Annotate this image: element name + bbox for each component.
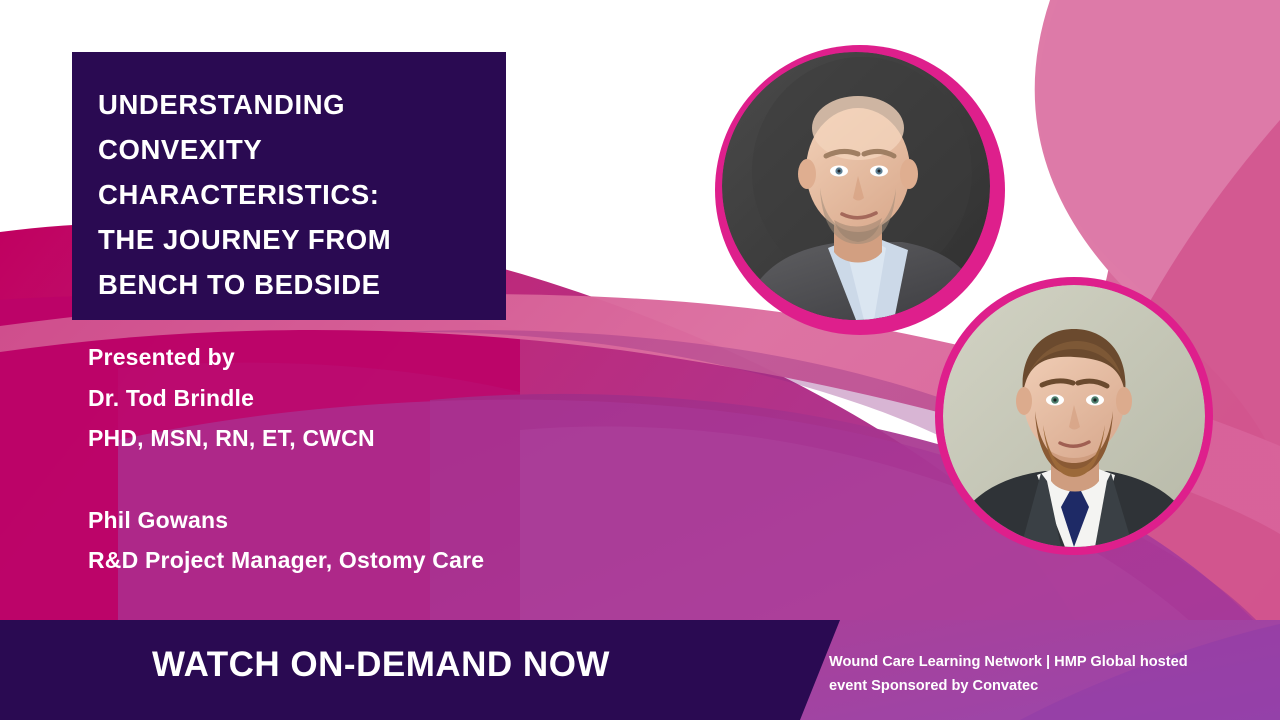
title-line-3: CHARACTERISTICS: — [98, 172, 472, 217]
watch-on-demand-button[interactable]: WATCH ON-DEMAND NOW — [152, 645, 610, 685]
title-line-1: UNDERSTANDING — [98, 82, 472, 127]
speaker-2-name: Phil Gowans — [88, 500, 708, 541]
presented-by-label: Presented by — [88, 337, 708, 378]
presenters-block: Presented by Dr. Tod Brindle PHD, MSN, R… — [88, 337, 708, 581]
title-card: UNDERSTANDING CONVEXITY CHARACTERISTICS:… — [72, 52, 506, 320]
speaker-1-headshot — [722, 52, 990, 320]
sponsor-credit: Wound Care Learning Network | HMP Global… — [829, 650, 1239, 698]
speaker-1-credentials: PHD, MSN, RN, ET, CWCN — [88, 418, 708, 459]
presenters-spacer — [88, 459, 708, 500]
speaker-2-title: R&D Project Manager, Ostomy Care — [88, 540, 708, 581]
speaker-2-headshot — [943, 285, 1205, 547]
sponsor-line-2: event Sponsored by Convatec — [829, 674, 1239, 698]
title-line-2: CONVEXITY — [98, 127, 472, 172]
title-line-5: BENCH TO BEDSIDE — [98, 262, 472, 307]
speaker-1-name: Dr. Tod Brindle — [88, 378, 708, 419]
promo-banner: UNDERSTANDING CONVEXITY CHARACTERISTICS:… — [0, 0, 1280, 720]
sponsor-line-1: Wound Care Learning Network | HMP Global… — [829, 650, 1239, 674]
title-line-4: THE JOURNEY FROM — [98, 217, 472, 262]
